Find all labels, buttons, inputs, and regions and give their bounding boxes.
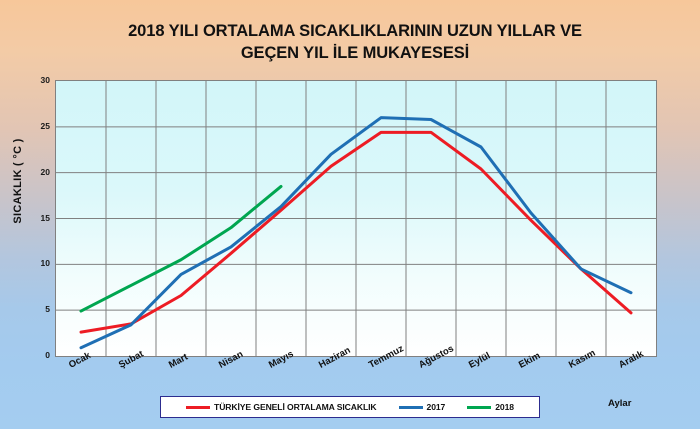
plot-area	[55, 80, 657, 357]
legend-entry[interactable]: TÜRKİYE GENELİ ORTALAMA SICAKLIK	[186, 402, 376, 412]
series-line-2017	[81, 118, 631, 348]
y-tick-label: 5	[24, 304, 50, 314]
y-tick-label: 10	[24, 258, 50, 268]
legend-label: 2017	[427, 402, 446, 412]
y-tick-label: 20	[24, 167, 50, 177]
y-tick-label: 30	[24, 75, 50, 85]
chart-title-line-2: GEÇEN YIL İLE MUKAYESESİ	[60, 42, 650, 64]
chart-title: 2018 YILI ORTALAMA SICAKLIKLARININ UZUN …	[60, 20, 650, 64]
legend-color-swatch	[467, 406, 491, 409]
y-tick-label: 0	[24, 350, 50, 360]
y-axis-ticks: 051015202530	[20, 80, 50, 355]
legend-label: 2018	[495, 402, 514, 412]
chart-legend: TÜRKİYE GENELİ ORTALAMA SICAKLIK20172018	[160, 396, 540, 418]
legend-color-swatch	[399, 406, 423, 409]
chart-container: 2018 YILI ORTALAMA SICAKLIKLARININ UZUN …	[0, 0, 700, 429]
legend-entry[interactable]: 2018	[467, 402, 514, 412]
legend-color-swatch	[186, 406, 210, 409]
chart-title-line-1: 2018 YILI ORTALAMA SICAKLIKLARININ UZUN …	[128, 22, 582, 40]
series-line-2018	[81, 186, 281, 311]
legend-entry[interactable]: 2017	[399, 402, 446, 412]
legend-label: TÜRKİYE GENELİ ORTALAMA SICAKLIK	[214, 402, 376, 412]
y-tick-label: 15	[24, 213, 50, 223]
data-series-layer	[56, 81, 656, 356]
y-axis-title: SICAKLIK ( °C )	[12, 101, 24, 261]
x-axis-title: Aylar	[608, 398, 631, 409]
y-tick-label: 25	[24, 121, 50, 131]
